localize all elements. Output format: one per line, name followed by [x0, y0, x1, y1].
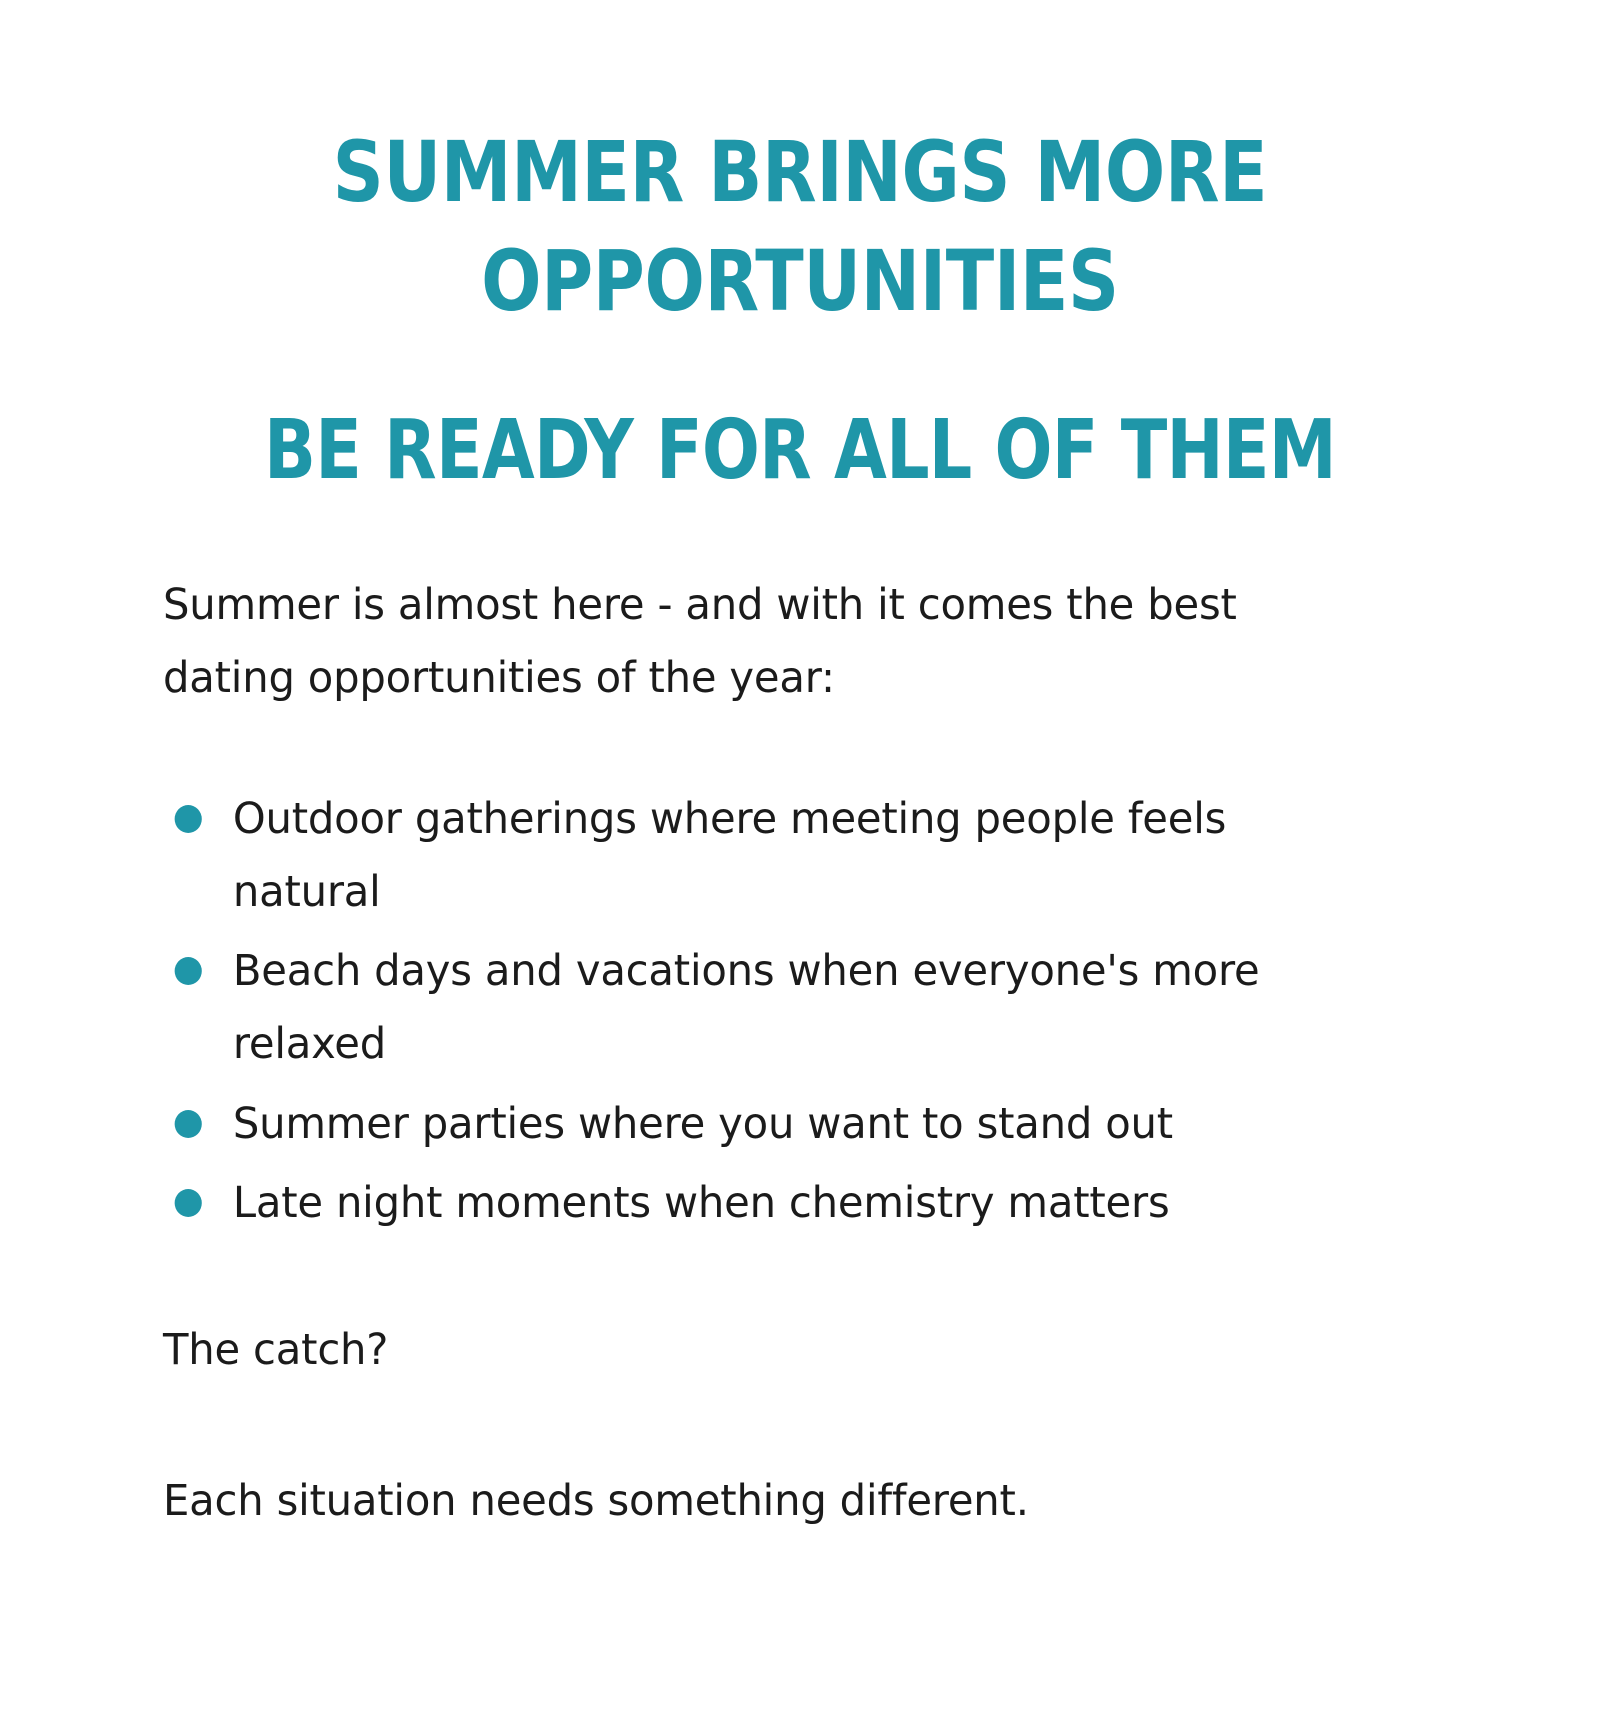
list-item-label: Outdoor gatherings where meeting people …	[233, 794, 1226, 917]
list-item-label: Late night moments when chemistry matter…	[233, 1178, 1170, 1228]
intro-paragraph: Summer is almost here - and with it come…	[163, 505, 1312, 715]
headline-primary: SUMMER BRINGS MORE OPPORTUNITIES	[189, 0, 1411, 336]
content-container: SUMMER BRINGS MORE OPPORTUNITIES BE READ…	[0, 0, 1600, 1538]
list-item: Beach days and vacations when everyone's…	[163, 935, 1327, 1081]
list-item: Summer parties where you want to stand o…	[163, 1088, 1327, 1161]
headline-block: SUMMER BRINGS MORE OPPORTUNITIES BE READ…	[0, 0, 1600, 505]
opportunities-list: Outdoor gatherings where meeting people …	[163, 715, 1363, 1240]
page-canvas: SUMMER BRINGS MORE OPPORTUNITIES BE READ…	[0, 0, 1600, 1732]
list-item: Late night moments when chemistry matter…	[163, 1167, 1327, 1240]
list-item-label: Summer parties where you want to stand o…	[233, 1099, 1173, 1149]
bullet-dot-icon	[175, 1189, 202, 1217]
bullet-dot-icon	[175, 805, 202, 833]
list-item-label: Beach days and vacations when everyone's…	[233, 946, 1260, 1069]
headline-secondary: BE READY FOR ALL OF THEM	[199, 336, 1402, 505]
list-item: Outdoor gatherings where meeting people …	[163, 783, 1327, 929]
closing-paragraph: Each situation needs something different…	[163, 1387, 1312, 1538]
bullet-dot-icon	[175, 1110, 202, 1138]
catch-paragraph: The catch?	[163, 1246, 1312, 1387]
bullet-dot-icon	[175, 957, 202, 985]
body-block: Summer is almost here - and with it come…	[0, 505, 1600, 1538]
